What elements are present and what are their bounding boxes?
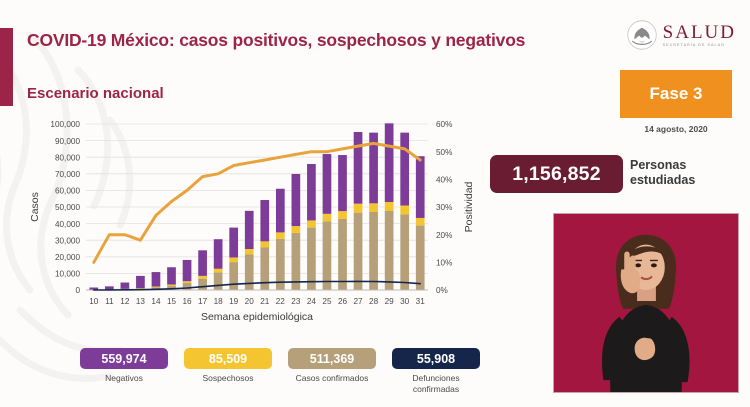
- chart-bar-segment: [183, 281, 192, 283]
- y-axis-tick-label: 50,000: [55, 203, 80, 212]
- y2-axis-tick-label: 0%: [436, 286, 448, 295]
- chart-bar-segment: [121, 283, 130, 289]
- studied-people-value: 1,156,852: [512, 163, 601, 186]
- chart-bar-segment: [105, 286, 114, 289]
- chart-bar-segment: [214, 239, 223, 269]
- legend-label-negativos: Negativos: [80, 373, 168, 384]
- x-axis-tick-label: 30: [400, 297, 410, 306]
- y2-axis-tick-label: 20%: [436, 231, 452, 240]
- y2-axis-tick-label: 50%: [436, 148, 452, 157]
- chart-bar-segment: [245, 249, 254, 254]
- y2-axis-tick-label: 40%: [436, 176, 452, 185]
- x-axis-tick-label: 20: [245, 297, 255, 306]
- chart-bar-segment: [167, 285, 176, 286]
- chart-bar-segment: [260, 200, 269, 241]
- legend-item-casos-confirmados: 511,369 Casos confirmados: [288, 348, 376, 384]
- y2-axis-tick-label: 60%: [436, 120, 452, 129]
- chart-bar-segment: [152, 272, 161, 286]
- chart-bar-segment: [400, 214, 409, 290]
- left-accent-bar: [0, 28, 13, 106]
- chart-bar-segment: [416, 226, 425, 290]
- legend-item-negativos: 559,974 Negativos: [80, 348, 168, 384]
- chart-bar-segment: [354, 204, 363, 213]
- chart-bar-segment: [292, 226, 301, 233]
- chart-bar-segment: [323, 221, 332, 290]
- page-title: COVID-19 México: casos positivos, sospec…: [27, 30, 525, 51]
- x-axis-tick-label: 17: [198, 297, 208, 306]
- y2-axis-title: Positividad: [463, 181, 475, 232]
- phase-label: Fase 3: [650, 84, 703, 104]
- logo-subtitle: SECRETARÍA DE SALUD: [663, 44, 736, 48]
- chart-bar-segment: [167, 267, 176, 284]
- x-axis-tick-label: 11: [105, 297, 114, 306]
- chart-bar-segment: [229, 262, 238, 290]
- chart-bar-segment: [385, 202, 394, 211]
- chart-bar-segment: [323, 154, 332, 214]
- legend-label-defunciones: Defunciones confirmadas: [392, 373, 480, 394]
- y-axis-tick-label: 60,000: [55, 187, 80, 196]
- y-axis-title: Casos: [29, 192, 41, 222]
- x-axis-tick-label: 18: [214, 297, 224, 306]
- x-axis-title: Semana epidemiológica: [201, 311, 313, 323]
- chart-bar-segment: [214, 272, 223, 290]
- chart-bar-segment: [400, 133, 409, 206]
- logo-wordmark: SALUD: [663, 23, 736, 42]
- legend-label-casos-confirmados: Casos confirmados: [288, 373, 376, 384]
- legend-item-sospechosos: 85,509 Sospechosos: [184, 348, 272, 384]
- chart-bar-segment: [229, 257, 238, 262]
- chart-bar-segment: [214, 269, 223, 273]
- x-axis-tick-label: 12: [120, 297, 130, 306]
- chart-bar-segment: [229, 228, 238, 258]
- x-axis-tick-label: 31: [416, 297, 426, 306]
- x-axis-tick-label: 10: [89, 297, 99, 306]
- y2-axis-tick-label: 30%: [436, 203, 452, 212]
- chart-bar-segment: [260, 241, 269, 247]
- chart-bar-segment: [198, 279, 207, 290]
- x-axis-tick-label: 24: [307, 297, 317, 306]
- y-axis-tick-label: 70,000: [55, 170, 80, 179]
- chart-bar-segment: [323, 214, 332, 221]
- x-axis-tick-label: 25: [322, 297, 332, 306]
- sign-language-video[interactable]: [553, 213, 739, 393]
- chart-bar-segment: [198, 276, 207, 279]
- phase-date: 14 agosto, 2020: [620, 124, 732, 134]
- chart-bar-segment: [416, 156, 425, 218]
- y2-axis-tick-label: 10%: [436, 259, 452, 268]
- chart-bar-segment: [292, 174, 301, 226]
- chart-bar-segment: [198, 250, 207, 276]
- x-axis-tick-label: 29: [385, 297, 395, 306]
- legend-label-sospechosos: Sospechosos: [184, 373, 272, 384]
- chart-bar-segment: [307, 220, 316, 227]
- legend-pill-casos-confirmados: 511,369: [288, 348, 376, 369]
- chart-bar-segment: [307, 164, 316, 220]
- x-axis-tick-label: 21: [260, 297, 270, 306]
- chart-bar-segment: [136, 276, 145, 288]
- chart-bar-segment: [385, 123, 394, 202]
- chart-bar-segment: [245, 211, 254, 249]
- x-axis-tick-label: 19: [229, 297, 239, 306]
- x-axis-tick-label: 15: [167, 297, 177, 306]
- chart-bar-segment: [400, 206, 409, 215]
- salud-logo: SALUD SECRETARÍA DE SALUD: [627, 20, 736, 50]
- chart-bar-segment: [245, 254, 254, 290]
- legend-pill-sospechosos: 85,509: [184, 348, 272, 369]
- chart-bar-segment: [183, 260, 192, 281]
- chart-bar-segment: [338, 155, 347, 211]
- legend-item-defunciones: 55,908 Defunciones confirmadas: [392, 348, 480, 394]
- chart-svg: 010,00020,00030,00040,00050,00060,00070,…: [24, 118, 484, 333]
- chart-bar-segment: [369, 212, 378, 290]
- y-axis-tick-label: 10,000: [55, 270, 80, 279]
- x-axis-tick-label: 27: [353, 297, 363, 306]
- x-axis-tick-label: 13: [136, 297, 146, 306]
- chart-bar-segment: [307, 228, 316, 290]
- studied-people-pill: 1,156,852: [490, 155, 623, 193]
- y-axis-tick-label: 100,000: [50, 120, 80, 129]
- y-axis-tick-label: 0: [75, 286, 80, 295]
- chart-bar-segment: [369, 203, 378, 212]
- page-subtitle: Escenario nacional: [27, 85, 164, 102]
- y-axis-tick-label: 40,000: [55, 220, 80, 229]
- chart-bar-segment: [338, 211, 347, 219]
- studied-people-caption: Personas estudiadas: [630, 158, 740, 189]
- y-axis-tick-label: 20,000: [55, 253, 80, 262]
- y-axis-tick-label: 90,000: [55, 137, 80, 146]
- phase-badge: Fase 3: [620, 70, 732, 118]
- x-axis-tick-label: 23: [291, 297, 301, 306]
- x-axis-tick-label: 28: [369, 297, 379, 306]
- slide-root: COVID-19 México: casos positivos, sospec…: [0, 0, 750, 407]
- x-axis-tick-label: 22: [276, 297, 286, 306]
- x-axis-tick-label: 26: [338, 297, 348, 306]
- legend-pill-negativos: 559,974: [80, 348, 168, 369]
- chart-bar-segment: [152, 287, 161, 288]
- stats-legend: 559,974 Negativos 85,509 Sospechosos 511…: [80, 348, 480, 406]
- chart-bar-segment: [276, 189, 285, 233]
- chart-bar-segment: [354, 213, 363, 290]
- chart-bar-segment: [354, 132, 363, 204]
- y-axis-tick-label: 80,000: [55, 153, 80, 162]
- mexico-eagle-seal-icon: [627, 20, 657, 50]
- chart-bar-segment: [385, 211, 394, 290]
- covid-chart: 010,00020,00030,00040,00050,00060,00070,…: [24, 118, 484, 333]
- legend-pill-defunciones: 55,908: [392, 348, 480, 369]
- chart-bar-segment: [338, 219, 347, 290]
- x-axis-tick-label: 16: [182, 297, 192, 306]
- x-axis-tick-label: 14: [151, 297, 161, 306]
- chart-bar-segment: [276, 232, 285, 238]
- y-axis-tick-label: 30,000: [55, 236, 80, 245]
- chart-bar-segment: [416, 218, 425, 226]
